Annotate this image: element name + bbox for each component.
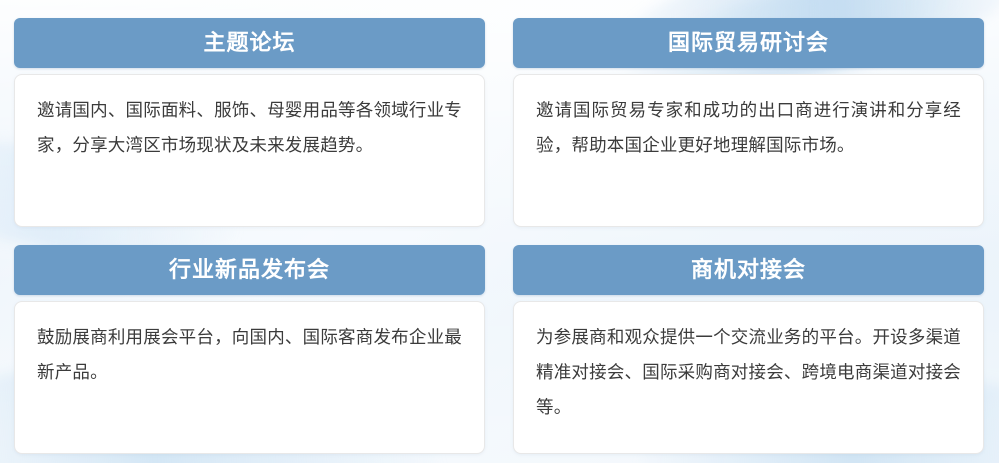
activity-card-body: 邀请国际贸易专家和成功的出口商进行演讲和分享经验，帮助本国企业更好地理解国际市场…	[513, 74, 984, 227]
activities-panel: 主题论坛 邀请国内、国际面料、服饰、母婴用品等各领域行业专家，分享大湾区市场现状…	[0, 0, 999, 463]
activity-card-title: 商机对接会	[691, 259, 806, 281]
activity-card-title: 行业新品发布会	[169, 259, 330, 281]
activity-card[interactable]: 商机对接会 为参展商和观众提供一个交流业务的平台。开设多渠道精准对接会、国际采购…	[513, 245, 984, 454]
activity-card-description: 邀请国际贸易专家和成功的出口商进行演讲和分享经验，帮助本国企业更好地理解国际市场…	[536, 93, 961, 163]
activity-card-header: 主题论坛	[14, 18, 485, 68]
activity-card-body: 为参展商和观众提供一个交流业务的平台。开设多渠道精准对接会、国际采购商对接会、跨…	[513, 301, 984, 454]
activity-card-header: 行业新品发布会	[14, 245, 485, 295]
activity-card-description: 鼓励展商利用展会平台，向国内、国际客商发布企业最新产品。	[37, 320, 462, 390]
activity-card[interactable]: 主题论坛 邀请国内、国际面料、服饰、母婴用品等各领域行业专家，分享大湾区市场现状…	[14, 18, 485, 227]
activity-card-body: 邀请国内、国际面料、服饰、母婴用品等各领域行业专家，分享大湾区市场现状及未来发展…	[14, 74, 485, 227]
activity-card-description: 邀请国内、国际面料、服饰、母婴用品等各领域行业专家，分享大湾区市场现状及未来发展…	[37, 93, 462, 163]
activity-card[interactable]: 国际贸易研讨会 邀请国际贸易专家和成功的出口商进行演讲和分享经验，帮助本国企业更…	[513, 18, 984, 227]
activity-card-description: 为参展商和观众提供一个交流业务的平台。开设多渠道精准对接会、国际采购商对接会、跨…	[536, 320, 961, 425]
activity-card-title: 主题论坛	[203, 32, 295, 54]
activity-card-body: 鼓励展商利用展会平台，向国内、国际客商发布企业最新产品。	[14, 301, 485, 454]
activity-card-header: 商机对接会	[513, 245, 984, 295]
activity-card[interactable]: 行业新品发布会 鼓励展商利用展会平台，向国内、国际客商发布企业最新产品。	[14, 245, 485, 454]
activity-card-title: 国际贸易研讨会	[668, 32, 829, 54]
activity-card-header: 国际贸易研讨会	[513, 18, 984, 68]
card-grid: 主题论坛 邀请国内、国际面料、服饰、母婴用品等各领域行业专家，分享大湾区市场现状…	[0, 0, 999, 463]
